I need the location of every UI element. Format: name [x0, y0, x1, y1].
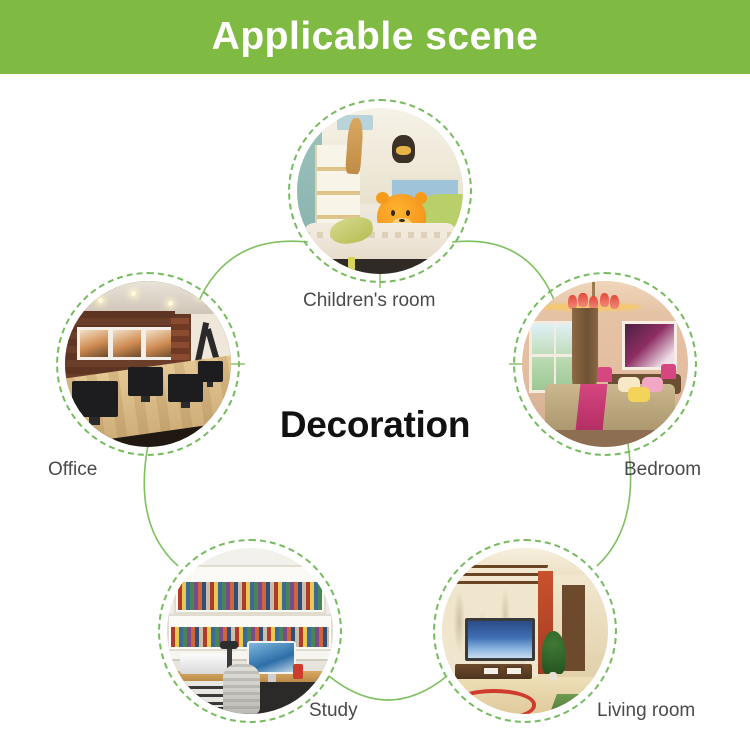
scene-photo-children-room [297, 108, 463, 274]
page-title: Applicable scene [212, 17, 539, 56]
scene-photo-study [167, 548, 333, 714]
scene-node-study[interactable] [158, 539, 342, 723]
scene-caption-study: Study [309, 700, 358, 722]
scene-photo-office [65, 281, 231, 447]
scene-photo-living-room [442, 548, 608, 714]
header-banner: Applicable scene [0, 0, 750, 74]
scene-caption-living-room: Living room [597, 700, 695, 722]
scene-caption-office: Office [48, 459, 97, 481]
arc-living-study [329, 676, 447, 700]
scene-node-children-room[interactable] [288, 99, 472, 283]
applicable-scene-infographic: Applicable scene Decoration [0, 0, 750, 750]
scene-node-living-room[interactable] [433, 539, 617, 723]
scene-node-bedroom[interactable] [513, 272, 697, 456]
scene-caption-bedroom: Bedroom [624, 459, 701, 481]
scene-photo-bedroom [522, 281, 688, 447]
scene-diagram: Decoration [0, 74, 750, 750]
scene-caption-children-room: Children's room [303, 290, 435, 312]
scene-node-office[interactable] [56, 272, 240, 456]
